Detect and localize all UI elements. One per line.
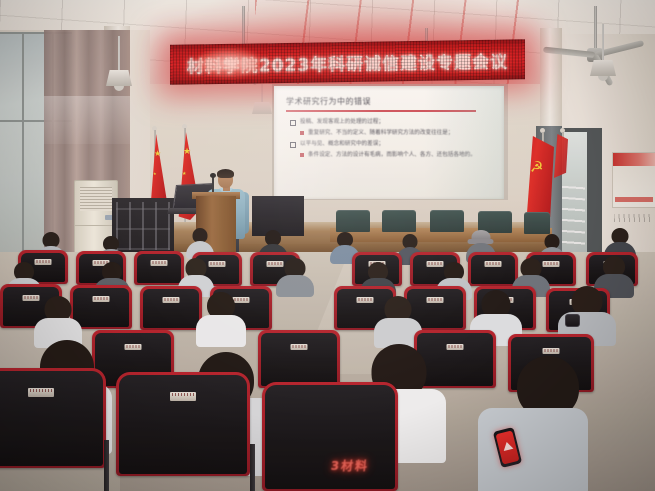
hammer-sickle-icon: ☭ <box>530 158 543 176</box>
audience-person <box>276 258 314 296</box>
phone-app-logo-icon <box>501 441 513 451</box>
seat-back <box>143 289 199 328</box>
wristwatch-icon <box>565 314 580 327</box>
flag-star-icon: ★ <box>183 148 191 157</box>
wall-marking <box>614 214 652 222</box>
flag-star-icon: ★ <box>182 172 186 177</box>
audience-person <box>196 292 246 342</box>
seat-number-plate <box>170 392 196 401</box>
lamp-shade <box>106 70 132 86</box>
auditorium-seat[interactable] <box>140 286 202 330</box>
audience-person <box>34 296 82 344</box>
poster-header-band <box>613 153 655 166</box>
curtain-sheer-band <box>44 96 130 144</box>
ac-grill <box>80 187 112 211</box>
head-table-chair[interactable] <box>524 212 550 234</box>
person-shoulders <box>276 275 314 297</box>
auditorium-seat[interactable] <box>468 252 518 286</box>
seat-support-leg <box>104 440 109 491</box>
seat-number-plate <box>93 296 110 302</box>
audience-person-with-phone <box>478 356 588 491</box>
window-mullion-1 <box>22 32 24 268</box>
flag-star-icon: ★ <box>154 150 161 158</box>
seat-number-plate <box>291 344 308 350</box>
lamp-cord <box>118 36 120 70</box>
seat-back <box>471 255 515 284</box>
wall-poster <box>612 152 655 208</box>
head-table-chair[interactable] <box>382 210 416 232</box>
seat-number-plate <box>163 297 180 303</box>
flag-star-icon: ★ <box>153 172 157 176</box>
seat-number-plate <box>357 297 374 303</box>
conference-room-scene: 材料学院2023年科研诚信建设专题会议 学术研究行为中的错误 投稿、发现客观上的… <box>0 0 655 491</box>
poster-footer-band <box>615 197 653 202</box>
pendant-lamp-left <box>106 36 132 100</box>
seat-number-plate <box>543 348 560 354</box>
lamp-bulb <box>598 76 608 81</box>
pendant-lamp-right <box>590 24 616 94</box>
pendant-lamp-center <box>252 84 272 124</box>
screen-gloss <box>274 86 504 199</box>
person-shoulders <box>478 408 588 491</box>
auditorium-seat[interactable] <box>134 251 184 285</box>
seat-back <box>137 254 181 283</box>
lamp-cord <box>602 24 604 60</box>
reflection-text: 3材料 <box>330 457 370 474</box>
seat-number-plate <box>447 344 464 350</box>
projection-screen: 学术研究行为中的错误 投稿、发现客观上的处理的过程； 重复研究、不当的定义、随着… <box>274 86 504 199</box>
seat-support-leg <box>250 444 255 491</box>
lamp-shade <box>252 102 272 114</box>
gray-cap-icon <box>472 230 491 244</box>
person-shoulders <box>196 315 246 347</box>
ac-seam <box>75 225 117 226</box>
lamp-cord <box>261 84 263 102</box>
seat-back <box>0 371 103 466</box>
head-table-chair[interactable] <box>336 210 370 232</box>
lamp-bulb <box>114 86 124 91</box>
lamp-shade <box>590 60 616 76</box>
head-table-chair[interactable] <box>430 210 464 232</box>
seat-number-plate <box>485 261 502 267</box>
auditorium-seat-foreground[interactable] <box>116 372 250 476</box>
seat-number-plate <box>151 260 168 266</box>
seat-number-plate <box>427 297 444 303</box>
auditorium-seat-foreground[interactable] <box>0 368 106 468</box>
seat-number-plate <box>28 388 54 397</box>
seat-number-plate <box>125 344 142 350</box>
seat-back <box>119 375 247 474</box>
banner-glare-spot <box>196 48 262 78</box>
banner-floor-reflection: 3材料 <box>289 452 412 478</box>
speaker-hair <box>217 169 234 178</box>
